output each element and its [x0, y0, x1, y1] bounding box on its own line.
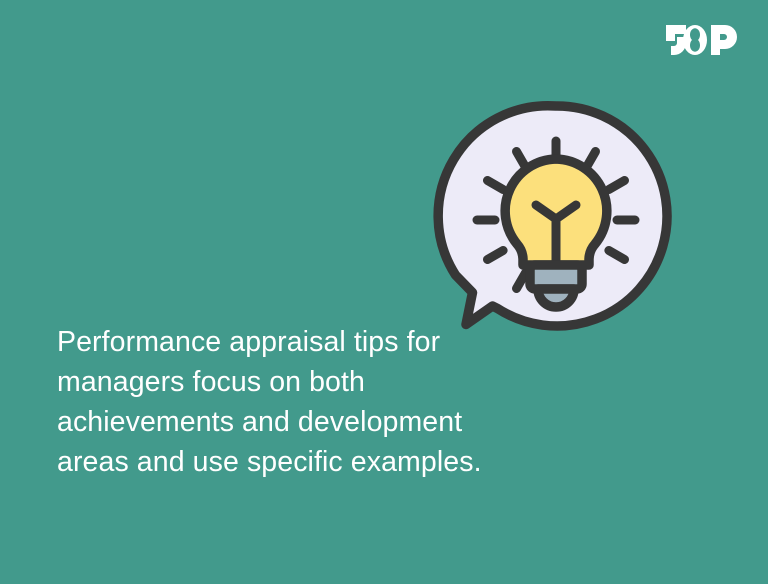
- headline-line-4: areas and use specific examples.: [57, 442, 497, 482]
- jop-logo-icon[interactable]: [664, 24, 740, 56]
- brand-logo-label: JOP: [0, 0, 1, 1]
- lightbulb-speech-bubble-illustration: [432, 92, 680, 340]
- page-title: Performance appraisal tips for managers …: [57, 322, 497, 482]
- headline-line-2: managers focus on both: [57, 362, 497, 402]
- headline-line-1: Performance appraisal tips for: [57, 322, 497, 362]
- bulb-base-tip: [538, 289, 574, 307]
- headline-line-3: achievements and development: [57, 402, 497, 442]
- promo-card: JOP: [0, 0, 768, 584]
